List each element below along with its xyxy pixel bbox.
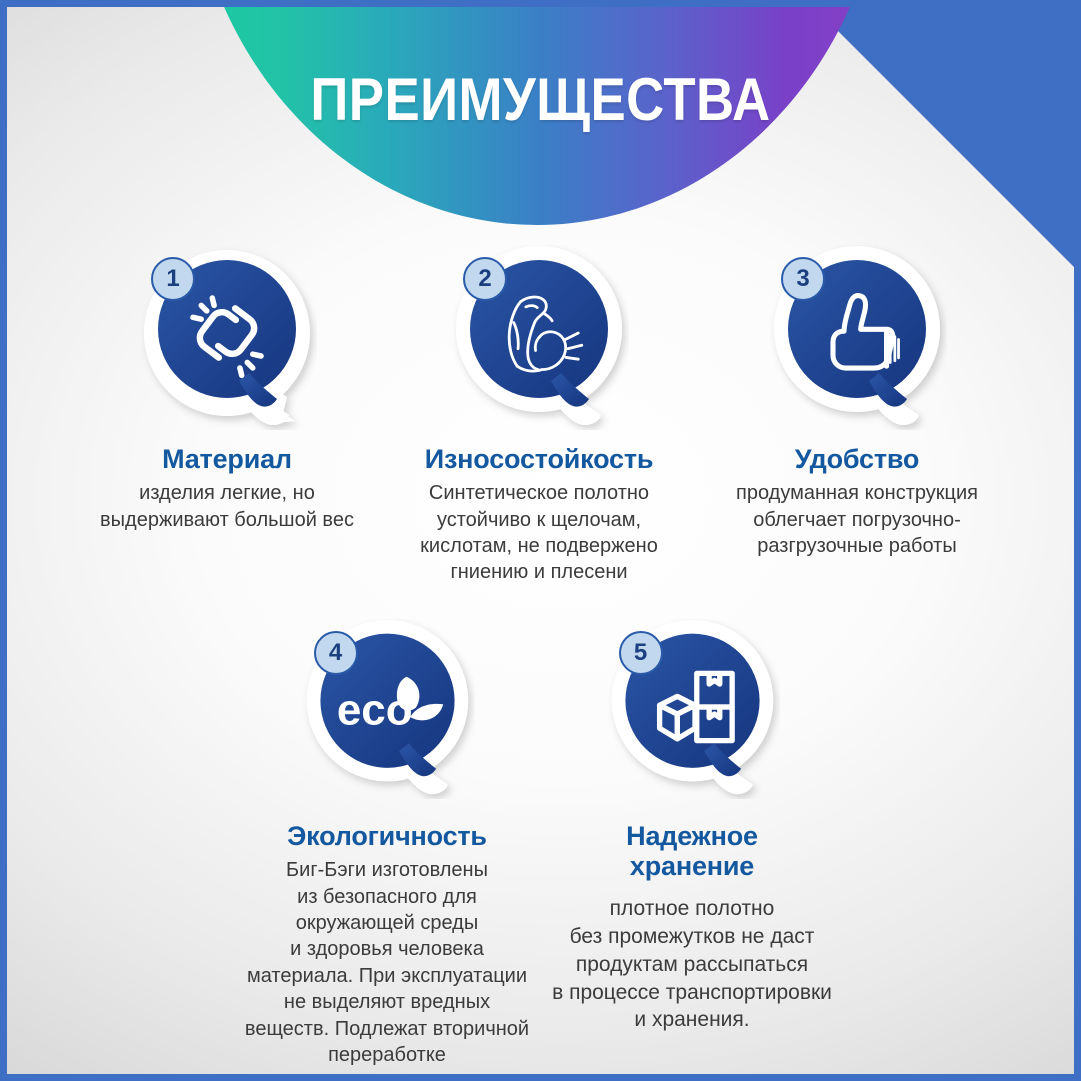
card-title-1: Материал	[72, 444, 382, 474]
card-body-line: переработке	[227, 1042, 547, 1068]
card-body-line: Синтетическое полотно	[379, 480, 699, 506]
card-body-4: Биг-Бэги изготовлены из безопасного для …	[227, 857, 547, 1068]
card-title-3: Удобство	[697, 444, 1017, 474]
badge-number-4: 4	[314, 631, 358, 675]
card-body-1: изделия легкие, но выдерживают большой в…	[72, 480, 382, 533]
advantage-card-2: 2	[379, 245, 699, 586]
card-body-line: изделия легкие, но	[72, 480, 382, 506]
advantage-card-4: 4 eco Экологичность Биг-Бэги изготовлены…	[227, 619, 547, 1068]
card-body-line: в процессе транспортировки	[532, 979, 852, 1007]
advantage-card-1: 1 Мат	[72, 245, 382, 533]
badge-3: 3	[767, 245, 947, 430]
badge-number-5: 5	[619, 631, 663, 675]
card-body-line: разгрузочные работы	[697, 533, 1017, 559]
card-body-5: плотное полотно без промежутков не даст …	[532, 895, 852, 1034]
card-body-line: продуманная конструкция	[697, 480, 1017, 506]
card-body-line: облегчает погрузочно-	[697, 507, 1017, 533]
card-body-2: Синтетическое полотно устойчиво к щелоча…	[379, 480, 699, 586]
poster-background: ПРЕИМУЩЕСТВА	[7, 7, 1074, 1074]
card-body-line: веществ. Подлежат вторичной	[227, 1016, 547, 1042]
card-body-line: продуктам рассыпаться	[532, 951, 852, 979]
card-body-line: из безопасного для	[227, 884, 547, 910]
card-body-line: без промежутков не даст	[532, 923, 852, 951]
card-title-4: Экологичность	[227, 821, 547, 851]
card-body-line: Биг-Бэги изготовлены	[227, 857, 547, 883]
badge-number-1: 1	[151, 257, 195, 301]
card-body-line: выдерживают большой вес	[72, 507, 382, 533]
advantages-poster: ПРЕИМУЩЕСТВА	[0, 0, 1081, 1081]
corner-wedge-decoration	[814, 7, 1074, 267]
card-body-line: кислотам, не подвержено	[379, 533, 699, 559]
card-body-line: устойчиво к щелочам,	[379, 507, 699, 533]
card-title-line: Надежное	[532, 821, 852, 851]
card-body-3: продуманная конструкция облегчает погруз…	[697, 480, 1017, 559]
card-body-line: материала. При эксплуатации	[227, 963, 547, 989]
badge-number-2: 2	[463, 257, 507, 301]
badge-2: 2	[449, 245, 629, 430]
card-body-line: плотное полотно	[532, 895, 852, 923]
badge-4: 4 eco	[300, 619, 475, 799]
card-title-line: хранение	[532, 851, 852, 881]
badge-1: 1	[137, 245, 317, 430]
card-title-2: Износостойкость	[379, 444, 699, 474]
badge-5: 5	[605, 619, 780, 799]
page-title: ПРЕИМУЩЕСТВА	[71, 65, 1010, 134]
card-title-5: Надежное хранение	[532, 821, 852, 881]
card-body-line: гниению и плесени	[379, 559, 699, 585]
card-body-line: и хранения.	[532, 1006, 852, 1034]
card-body-line: окружающей среды	[227, 910, 547, 936]
badge-number-3: 3	[781, 257, 825, 301]
advantage-card-3: 3 Удобство продуманная конструкция облег…	[697, 245, 1017, 559]
card-body-line: не выделяют вредных	[227, 989, 547, 1015]
advantage-card-5: 5 Надежное хр	[532, 619, 852, 1034]
card-body-line: и здоровья человека	[227, 936, 547, 962]
